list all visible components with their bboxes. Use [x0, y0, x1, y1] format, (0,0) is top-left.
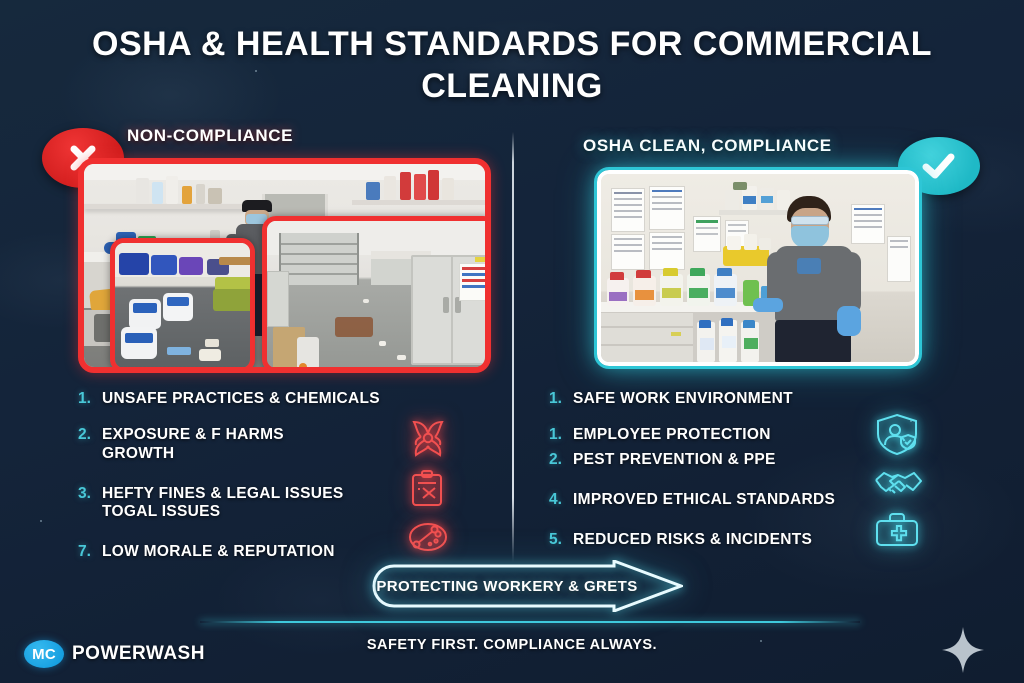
panel-divider — [512, 132, 514, 562]
list-item-number: 4. — [549, 491, 573, 509]
list-item-label: HEFTY FINES & LEGAL ISSUES TOGAL ISSUES — [102, 485, 344, 522]
list-item-label: LOW MORALE & REPUTATION — [102, 543, 335, 561]
right-panel-header: OSHA CLEAN, COMPLIANCE — [583, 136, 832, 156]
compliance-icon-column — [872, 412, 924, 558]
footer-divider — [200, 621, 860, 623]
list-item-number: 7. — [78, 543, 102, 561]
list-item-number: 2. — [78, 426, 102, 444]
list-item-label: EXPOSURE & F HARMS GROWTH — [102, 426, 284, 463]
list-item-label: EMPLOYEE PROTECTION — [573, 426, 771, 444]
clipboard-violation-icon — [405, 468, 449, 510]
list-item: 1. SAFE WORK ENVIRONMENT — [549, 390, 949, 408]
list-item-number: 1. — [549, 426, 573, 444]
non-compliance-icon-column — [405, 418, 451, 564]
infographic-canvas: OSHA & HEALTH STANDARDS FOR COMMERCIAL C… — [0, 0, 1024, 683]
list-item-number: 5. — [549, 531, 573, 549]
four-point-star-icon — [940, 625, 986, 675]
sparkle-dot — [40, 520, 42, 522]
left-panel-header: NON-COMPLIANCE — [127, 126, 293, 146]
biohazard-icon — [405, 418, 451, 458]
footer-tagline: SAFETY FIRST. COMPLIANCE ALWAYS. — [0, 637, 1024, 653]
injury-bone-icon — [405, 520, 451, 554]
list-item-number: 1. — [78, 390, 102, 408]
shield-person-icon — [872, 412, 922, 456]
non-compliance-inset-photo-2 — [262, 216, 491, 373]
medical-kit-icon — [872, 510, 922, 548]
list-item-label: IMPROVED ETHICAL STANDARDS — [573, 491, 835, 509]
list-item: 1. UNSAFE PRACTICES & CHEMICALS — [78, 390, 478, 408]
list-item-label: PEST PREVENTION & PPE — [573, 451, 776, 469]
list-item-number: 3. — [78, 485, 102, 503]
list-item-number: 2. — [549, 451, 573, 469]
non-compliance-inset-photo-1 — [110, 238, 255, 373]
handshake-icon — [872, 466, 924, 500]
list-item-number: 1. — [549, 390, 573, 408]
page-title: OSHA & HEALTH STANDARDS FOR COMMERCIAL C… — [0, 24, 1024, 108]
list-item-label: REDUCED RISKS & INCIDENTS — [573, 531, 812, 549]
list-item-label: UNSAFE PRACTICES & CHEMICALS — [102, 390, 380, 408]
protecting-banner-label: PROTECTING WORKERY & GRETS — [368, 560, 646, 612]
list-item-label: SAFE WORK ENVIRONMENT — [573, 390, 793, 408]
compliance-photo — [597, 170, 919, 366]
protecting-banner: PROTECTING WORKERY & GRETS — [368, 560, 683, 612]
non-compliance-photo — [78, 158, 491, 373]
